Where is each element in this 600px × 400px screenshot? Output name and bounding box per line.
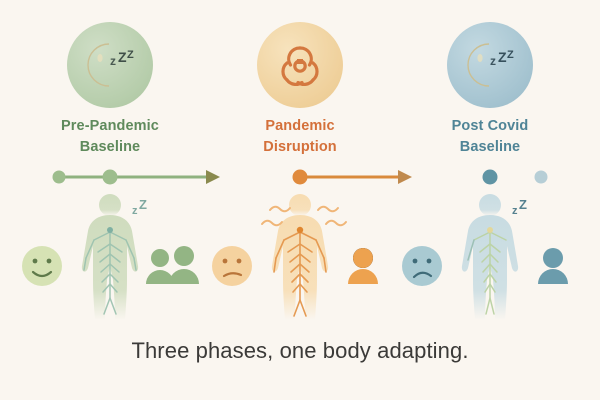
svg-text:z: z [490, 54, 496, 68]
nerve-hub-dot [297, 227, 303, 233]
phase-badge-pandemic [257, 22, 343, 108]
timeline-node-start [53, 171, 66, 184]
svg-text:Z: Z [127, 49, 134, 61]
svg-text:Z: Z [139, 197, 147, 212]
svg-text:Z: Z [519, 197, 527, 212]
timeline-arrow-to-pandemic [206, 170, 220, 184]
moon-sleep-icon: z Z Z [79, 38, 141, 92]
three-phase-timeline [0, 166, 600, 188]
phase-label-pre-pandemic: Pre-Pandemic Baseline [10, 116, 210, 157]
phase-pandemic-disruption: Pandemic Disruption [200, 0, 400, 330]
phase-scene-post-covid: z Z [390, 188, 590, 328]
phase-label-pandemic: Pandemic Disruption [200, 116, 400, 157]
svg-text:z: z [132, 205, 138, 217]
phase-post-covid-baseline: z Z Z Post Covid Baseline [390, 0, 590, 330]
svg-text:z: z [110, 54, 116, 68]
phase-label-post-covid: Post Covid Baseline [390, 116, 590, 157]
phase-scene-pandemic [200, 188, 400, 328]
phase-label-line1: Pandemic [265, 118, 334, 134]
timeline-arrow-to-post-covid [398, 170, 412, 184]
timeline-node-pandemic [293, 170, 308, 185]
phase-badge-post-covid: z Z Z [447, 22, 533, 108]
svg-text:z: z [512, 205, 518, 217]
timeline-node-pre-pandemic [103, 170, 118, 185]
caption-text: Three phases, one body adapting. [0, 338, 600, 364]
svg-text:Z: Z [507, 49, 514, 61]
phase-label-line1: Post Covid [452, 118, 529, 134]
one-person-icon [348, 248, 378, 284]
phase-label-line2: Disruption [200, 137, 400, 158]
smiling-face-icon [22, 246, 62, 286]
one-person-icon [538, 248, 568, 284]
sleep-symbol-icon: z Z [512, 197, 527, 217]
sleep-symbol-icon: z Z [132, 197, 147, 217]
nerve-hub-dot [487, 227, 493, 233]
sad-face-icon [402, 246, 442, 286]
phase-pre-pandemic: z Z Z Pre-Pandemic Baseline [10, 0, 210, 330]
phase-scene-pre-pandemic: z Z [10, 188, 210, 328]
biohazard-icon [274, 39, 326, 91]
timeline-node-post-covid [483, 170, 498, 185]
phase-badge-pre-pandemic: z Z Z [67, 22, 153, 108]
moon-sleep-icon: z Z Z [459, 38, 521, 92]
frowning-face-icon [212, 246, 252, 286]
timeline-node-end [535, 171, 548, 184]
phase-label-line2: Baseline [10, 137, 210, 158]
svg-text:Z: Z [118, 49, 127, 65]
phase-label-line2: Baseline [390, 137, 590, 158]
two-people-icon [146, 246, 199, 284]
nerve-hub-dot [107, 227, 113, 233]
svg-text:Z: Z [498, 49, 507, 65]
infographic-canvas: z Z Z Pre-Pandemic Baseline [0, 0, 600, 400]
phase-label-line1: Pre-Pandemic [61, 118, 159, 134]
